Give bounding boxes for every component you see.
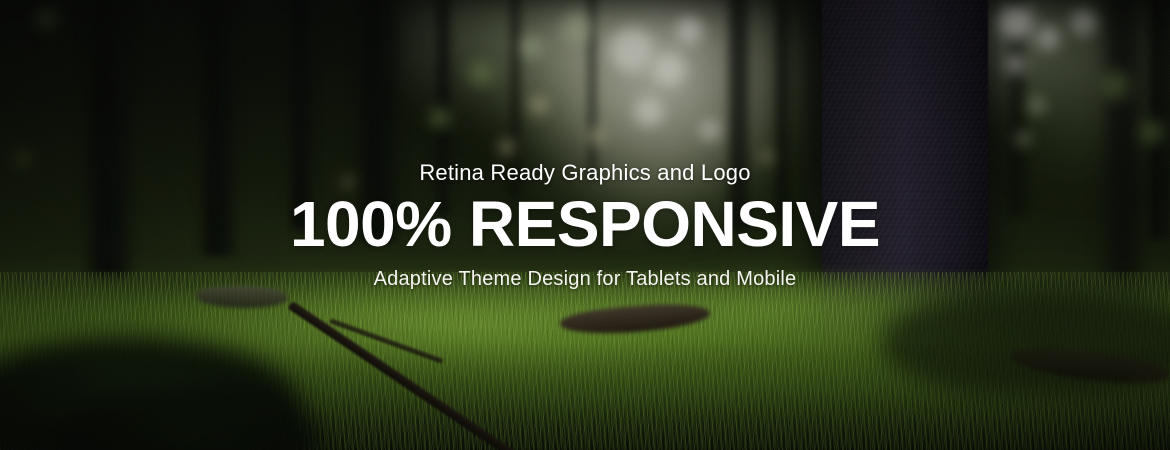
hero-banner: Retina Ready Graphics and Logo 100% RESP… [0, 0, 1170, 450]
hero-caption: Retina Ready Graphics and Logo 100% RESP… [0, 160, 1170, 291]
hero-tagline-bottom: Adaptive Theme Design for Tablets and Mo… [0, 267, 1170, 291]
hero-tagline-top: Retina Ready Graphics and Logo [0, 160, 1170, 186]
hero-headline: 100% RESPONSIVE [0, 192, 1170, 257]
